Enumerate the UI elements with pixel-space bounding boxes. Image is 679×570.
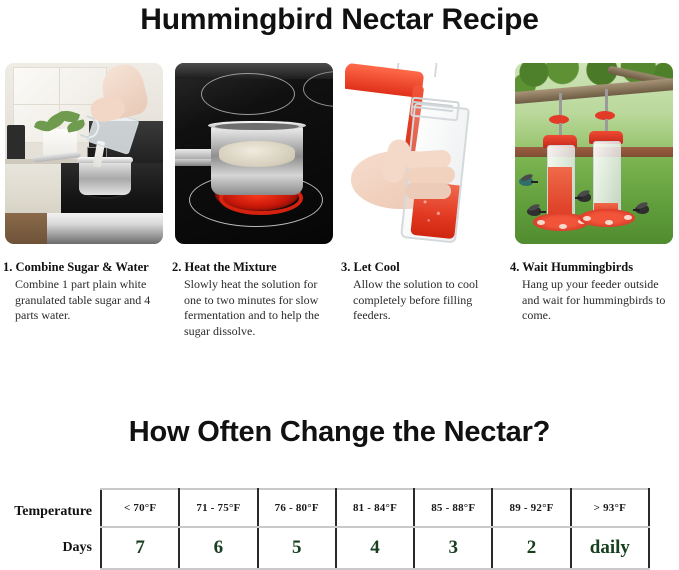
days-cell: 7 bbox=[101, 527, 179, 569]
temperature-cell: > 93°F bbox=[571, 489, 649, 527]
hummingbird-beak bbox=[575, 197, 582, 199]
burner-outline-top-left bbox=[201, 73, 295, 115]
days-cell: daily bbox=[571, 527, 649, 569]
step-body: Hang up your feeder outside and wait for… bbox=[510, 277, 671, 324]
step-title: 3. Let Cool bbox=[341, 259, 502, 275]
section-title-change-frequency: How Often Change the Nectar? bbox=[0, 414, 679, 450]
saucepan bbox=[79, 159, 131, 195]
temperature-cell: 85 - 88°F bbox=[414, 489, 492, 527]
photo-sugar-poured-into-saucepan bbox=[5, 63, 163, 244]
row-label-temperature: Temperature bbox=[0, 504, 92, 520]
recipe-photo-row bbox=[5, 63, 674, 244]
hummingbird-beak bbox=[539, 211, 546, 213]
photo-saucepan-heating-on-burner bbox=[175, 63, 333, 244]
photo-hummingbird-feeders-on-branch bbox=[515, 63, 673, 244]
days-cell: 4 bbox=[336, 527, 414, 569]
recipe-step-4: 4. Wait Hummingbirds Hang up your feeder… bbox=[510, 259, 679, 339]
nectar-change-table-wrap: Temperature Days < 70°F 71 - 75°F 76 - 8… bbox=[0, 488, 679, 566]
saucepan-handle-shadow bbox=[175, 159, 215, 166]
recipe-step-2: 2. Heat the Mixture Slowly heat the solu… bbox=[172, 259, 341, 339]
sugar-water-liquid bbox=[219, 141, 295, 167]
step-title: 2. Heat the Mixture bbox=[172, 259, 333, 275]
recipe-steps: 1. Combine Sugar & Water Combine 1 part … bbox=[3, 259, 679, 339]
recipe-step-1: 1. Combine Sugar & Water Combine 1 part … bbox=[3, 259, 172, 339]
saucepan-rim bbox=[77, 157, 133, 163]
temperature-cell: 76 - 80°F bbox=[258, 489, 336, 527]
table-row-labels: Temperature Days bbox=[0, 488, 96, 566]
saucepan-interior bbox=[215, 123, 299, 130]
feeder-port bbox=[605, 220, 613, 225]
temperature-cell: 81 - 84°F bbox=[336, 489, 414, 527]
recipe-step-3: 3. Let Cool Allow the solution to cool c… bbox=[341, 259, 510, 339]
days-cell: 2 bbox=[492, 527, 570, 569]
page-title: Hummingbird Nectar Recipe bbox=[0, 2, 679, 38]
oven-front bbox=[47, 213, 163, 244]
hummingbird-beak bbox=[633, 209, 640, 211]
days-cell: 3 bbox=[414, 527, 492, 569]
days-cell: 6 bbox=[179, 527, 257, 569]
step-body: Allow the solution to cool completely be… bbox=[341, 277, 502, 324]
feeder-port bbox=[559, 224, 567, 229]
finger bbox=[405, 183, 451, 199]
table-row-days: 7 6 5 4 3 2 daily bbox=[101, 527, 649, 569]
feeder-nectar-left bbox=[548, 167, 572, 219]
table-row-temperature: < 70°F 71 - 75°F 76 - 80°F 81 - 84°F 85 … bbox=[101, 489, 649, 527]
hummingbird-beak bbox=[531, 181, 538, 183]
days-cell: 5 bbox=[258, 527, 336, 569]
row-label-days: Days bbox=[0, 540, 92, 556]
photo-pouring-nectar-into-bottle bbox=[345, 63, 503, 244]
feeder-port bbox=[537, 220, 545, 225]
step-body: Slowly heat the solution for one to two … bbox=[172, 277, 333, 339]
step-title: 1. Combine Sugar & Water bbox=[3, 259, 164, 275]
temperature-cell: < 70°F bbox=[101, 489, 179, 527]
dark-canister bbox=[7, 125, 25, 163]
step-body: Combine 1 part plain white granulated ta… bbox=[3, 277, 164, 324]
feeder-port bbox=[583, 216, 591, 221]
step-title: 4. Wait Hummingbirds bbox=[510, 259, 671, 275]
nectar-change-table: < 70°F 71 - 75°F 76 - 80°F 81 - 84°F 85 … bbox=[100, 488, 650, 570]
temperature-cell: 89 - 92°F bbox=[492, 489, 570, 527]
temperature-cell: 71 - 75°F bbox=[179, 489, 257, 527]
feeder-port bbox=[624, 215, 632, 220]
